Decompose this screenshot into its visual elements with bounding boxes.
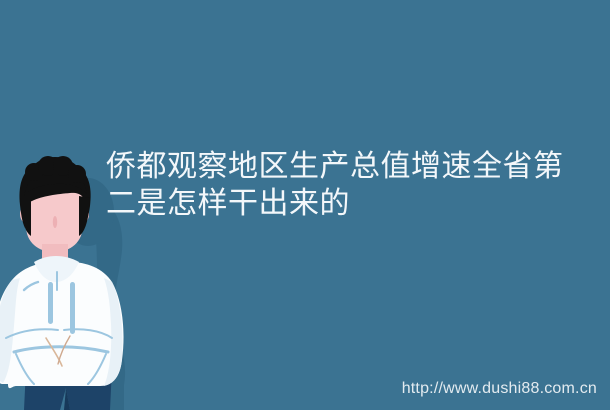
drawstring-left	[48, 282, 53, 324]
hood-collar	[34, 256, 79, 282]
ear-right	[77, 205, 89, 223]
ear-left	[20, 205, 32, 223]
arm-seam-right	[64, 329, 112, 338]
shoulder-fold-left	[24, 282, 38, 290]
hair	[20, 157, 91, 228]
pocket-edge-left	[16, 354, 34, 384]
hand-line	[46, 338, 62, 366]
hair-top-waves	[24, 167, 87, 196]
sideburn-left	[20, 198, 31, 236]
page-title: 侨都观察地区生产总值增速全省第 二是怎样干出来的	[106, 148, 598, 222]
hoodie	[0, 256, 124, 388]
pants-crotch-shade	[64, 388, 70, 410]
sideburn-right	[79, 196, 90, 236]
title-line-2: 二是怎样干出来的	[106, 185, 598, 222]
neck	[42, 244, 68, 279]
hair-bump-4	[68, 165, 86, 183]
hair-bump-1	[25, 163, 43, 181]
face	[26, 172, 83, 252]
pocket-top-line	[14, 347, 108, 352]
hoodie-sleeve-right-shade	[104, 278, 123, 386]
nose-icon	[53, 216, 57, 228]
hair-bump-2	[38, 156, 58, 176]
arm-seam-left	[6, 329, 58, 338]
article-cover-card: 侨都观察地区生产总值增速全省第 二是怎样干出来的 http://www.dush…	[0, 0, 610, 410]
pants	[24, 368, 112, 410]
pocket-edge-right	[88, 354, 106, 384]
title-line-1: 侨都观察地区生产总值增速全省第	[106, 148, 598, 185]
hand-line-2	[58, 336, 70, 364]
hair-bump-3	[53, 156, 73, 176]
drawstring-right	[70, 282, 75, 334]
site-url-watermark: http://www.dushi88.com.cn	[402, 380, 597, 398]
hoodie-sleeve-left-shade	[0, 278, 20, 383]
head-group	[20, 156, 91, 279]
